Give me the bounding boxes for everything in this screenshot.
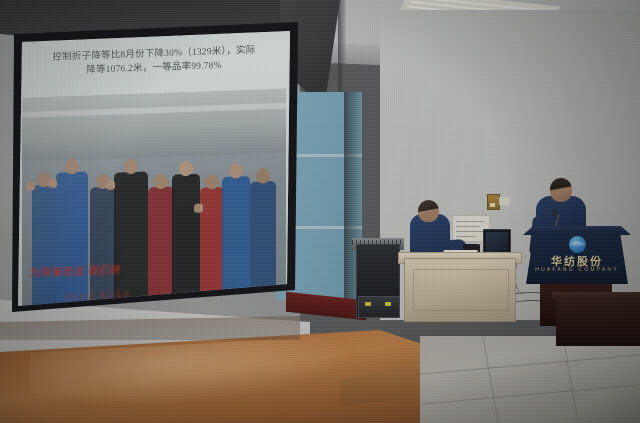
av-operator-head: [418, 200, 439, 222]
projection-screen[interactable]: 控制折子降等比8月份下降30%（1329米），实际 降等1076.2米，一等品率…: [18, 26, 290, 306]
photo-person: [56, 172, 88, 305]
monitor-screen: [486, 232, 508, 252]
podium-brand-en: HUAFANG COMPANY: [526, 267, 628, 273]
desk-panel: [413, 269, 509, 311]
photo-person: [148, 187, 174, 302]
microphone-head-icon: [552, 210, 558, 216]
speaker-head: [550, 178, 572, 202]
wall-plate-label: [499, 197, 510, 205]
photo-person: [90, 187, 116, 304]
side-cabinet: [556, 296, 640, 346]
huafang-globe-logo-icon: [569, 236, 586, 253]
slide-red-caption: 为荣誉而战 我们拼: [30, 261, 122, 279]
photo-person: [114, 171, 148, 302]
photo-person: [200, 187, 224, 300]
tiled-floor: [420, 336, 640, 423]
equipment-case: [358, 296, 400, 318]
podium: 华纺股份 HUAFANG COMPANY: [526, 232, 628, 284]
photo-person: [32, 185, 56, 306]
photo-background-factory: [22, 89, 286, 162]
photo-person: [250, 181, 276, 298]
photo-scene: 控制折子降等比8月份下降30%（1329米），实际 降等1076.2米，一等品率…: [0, 0, 640, 423]
slide-group-photo: 为荣誉而战 我们拼 团结奋进 再创佳绩: [22, 89, 286, 306]
av-desk: [404, 258, 516, 322]
photo-person: [172, 174, 200, 301]
presentation-slide: 控制折子降等比8月份下降30%（1329米），实际 降等1076.2米，一等品率…: [18, 26, 290, 306]
photo-person: [222, 176, 250, 299]
